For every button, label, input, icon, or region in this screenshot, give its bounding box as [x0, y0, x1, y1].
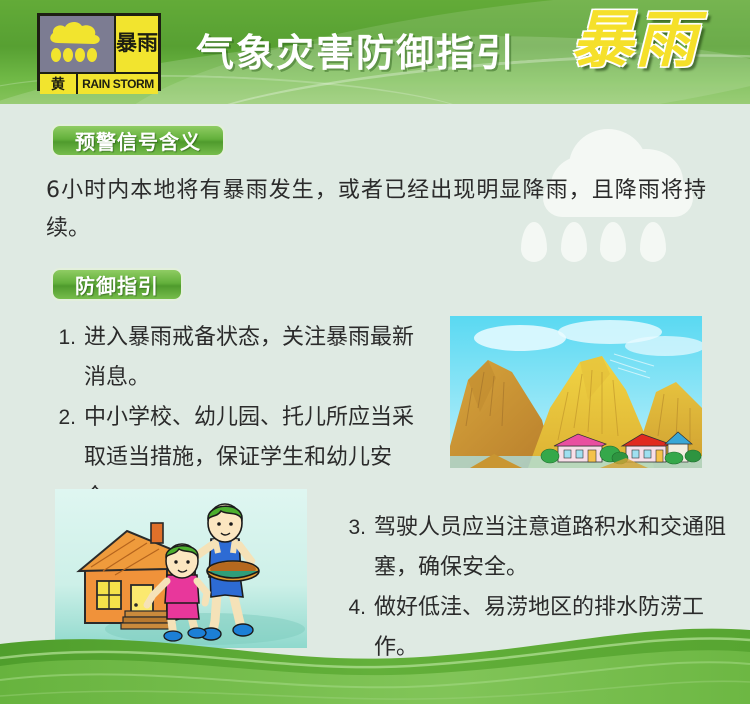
list-item-number: 1. — [46, 318, 84, 358]
warning-icon-level-en: RAIN STORM — [78, 74, 158, 94]
rainstorm-yellow-warning-icon: 暴雨 黄 RAIN STORM — [37, 13, 161, 91]
warning-icon-bottom-row: 黄 RAIN STORM — [40, 72, 158, 94]
mountain-village-artwork — [450, 316, 702, 468]
header-keyword: 暴雨 — [571, 9, 699, 71]
section-badge-guidance: 防御指引 — [51, 268, 183, 301]
poster-header: 暴雨 黄 RAIN STORM 气象灾害防御指引 暴雨 — [0, 0, 750, 104]
footer-wave-artwork — [0, 608, 750, 704]
list-item-text: 驾驶人员应当注意道路积水和交通阻塞，确保安全。 — [374, 508, 736, 588]
list-item: 1. 进入暴雨戒备状态，关注暴雨最新消息。 — [46, 318, 426, 398]
weather-warning-poster: 暴雨 黄 RAIN STORM 气象灾害防御指引 暴雨 预警信号含义 6小时内本… — [0, 0, 750, 704]
list-item-text: 进入暴雨戒备状态，关注暴雨最新消息。 — [84, 318, 426, 398]
warning-icon-vertical-text: 暴雨 — [116, 16, 158, 72]
list-item: 3. 驾驶人员应当注意道路积水和交通阻塞，确保安全。 — [336, 508, 736, 588]
mountain-village-illustration — [450, 316, 702, 468]
warning-icon-cloud-panel — [40, 16, 116, 72]
list-item-number: 2. — [46, 398, 84, 438]
warning-icon-top-row: 暴雨 — [40, 16, 158, 72]
page-title: 气象灾害防御指引 — [196, 34, 516, 72]
meaning-body-text: 6小时内本地将有暴雨发生，或者已经出现明显降雨，且降雨将持续。 — [46, 172, 706, 248]
section-badge-meaning: 预警信号含义 — [51, 124, 225, 157]
warning-icon-level-cn: 黄 — [40, 74, 78, 94]
guidance-list-left: 1. 进入暴雨戒备状态，关注暴雨最新消息。 2. 中小学校、幼儿园、托儿所应当采… — [46, 318, 426, 518]
cloud-rain-icon — [44, 19, 108, 69]
green-wave-footer — [0, 608, 750, 704]
list-item-number: 3. — [336, 508, 374, 548]
